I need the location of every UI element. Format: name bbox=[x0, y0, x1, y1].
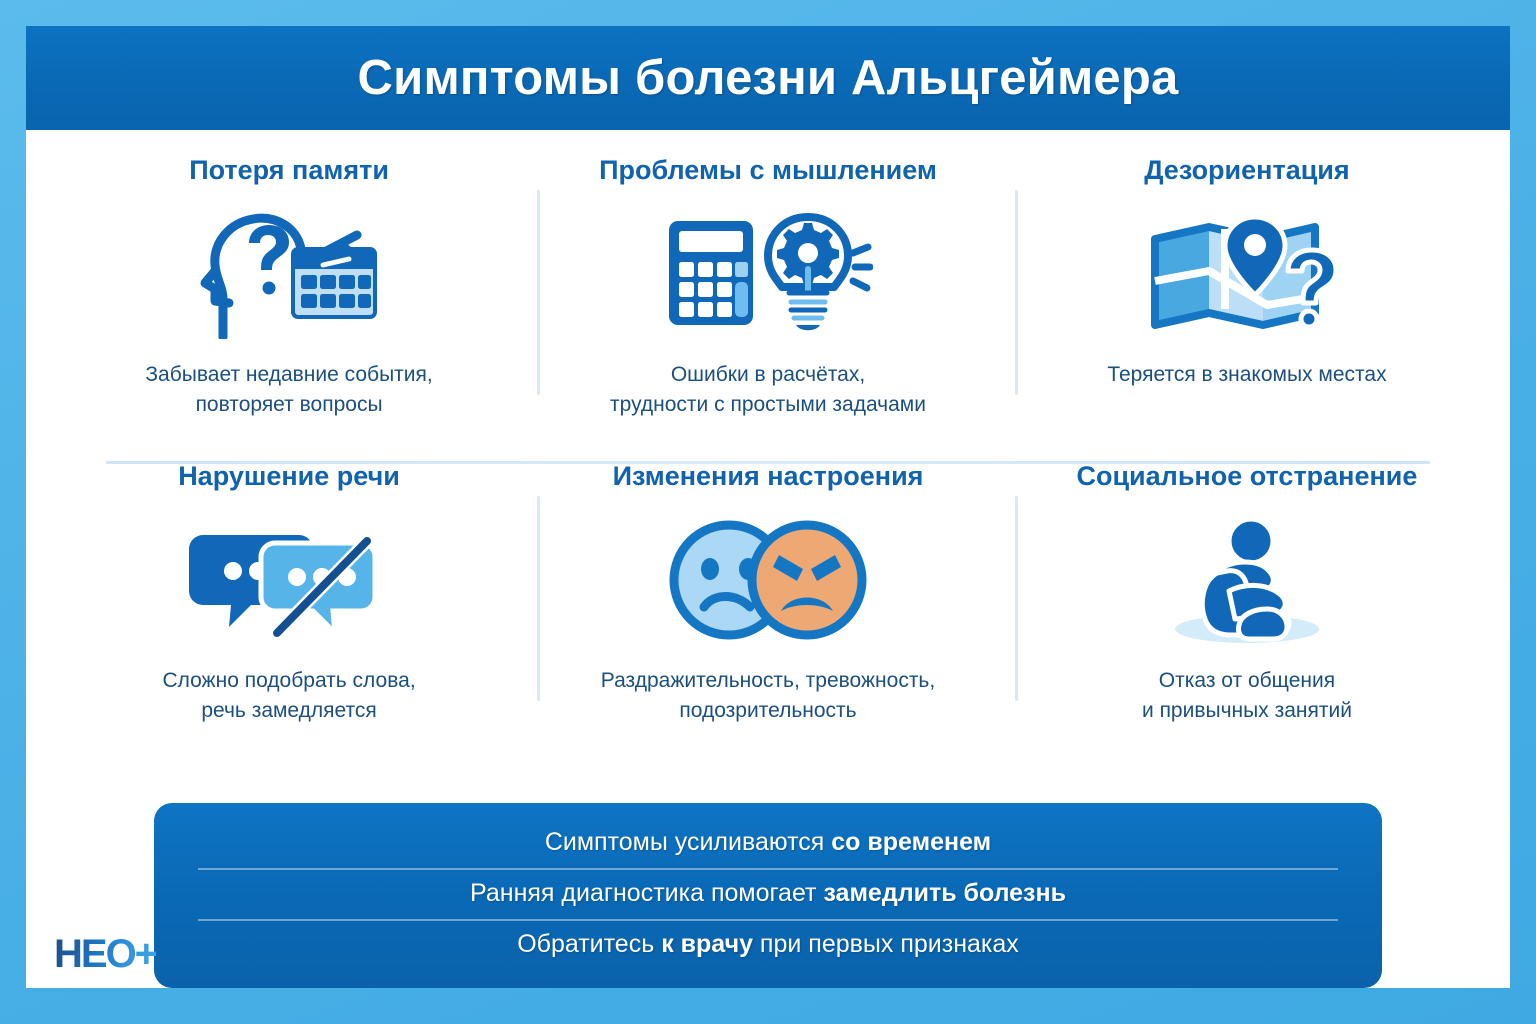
symptom-title: Изменения настроения bbox=[613, 462, 924, 500]
symptom-description: Ошибки в расчётах,трудности с простыми з… bbox=[610, 360, 926, 420]
calculator-lightbulb-gear-icon bbox=[663, 208, 873, 340]
symptom-card-memory-loss[interactable]: Потеря памяти bbox=[54, 156, 524, 462]
message-text-bold: к врачу bbox=[661, 930, 753, 958]
symptom-description: Теряется в знакомых местах bbox=[1107, 360, 1386, 390]
symptoms-row-1: Потеря памяти bbox=[54, 156, 1482, 462]
symptom-card-disorientation[interactable]: Дезориентация bbox=[1012, 156, 1482, 462]
symptom-title: Социальное отстранение bbox=[1076, 462, 1417, 500]
head-question-calendar-icon bbox=[189, 208, 389, 340]
symptom-card-social-withdrawal[interactable]: Социальное отстранение bbox=[1012, 462, 1482, 768]
symptom-description: Раздражительность, тревожность,подозрите… bbox=[601, 666, 935, 726]
poster-card: Симптомы болезни Альцгеймера Потеря памя… bbox=[26, 26, 1510, 988]
message-text-bold: со временем bbox=[831, 828, 991, 856]
poster-canvas: Симптомы болезни Альцгеймера Потеря памя… bbox=[0, 0, 1536, 1024]
brand-logo: НЕО+ bbox=[54, 934, 156, 974]
sad-angry-faces-icon bbox=[663, 514, 873, 646]
key-messages-panel: Симптомы усиливаются со временем Ранняя … bbox=[154, 803, 1382, 988]
message-text-plain: Обратитесь bbox=[517, 930, 661, 958]
symptoms-row-2: Нарушение речи bbox=[54, 462, 1482, 768]
symptom-card-speech-impairment[interactable]: Нарушение речи bbox=[54, 462, 524, 768]
message-text-plain: Ранняя диагностика помогает bbox=[470, 879, 823, 907]
message-text-plain-after: при первых признаках bbox=[753, 930, 1019, 958]
symptom-title: Дезориентация bbox=[1144, 156, 1349, 194]
symptom-card-thinking-problems[interactable]: Проблемы с мышлением bbox=[524, 156, 1012, 462]
key-message-line: Симптомы усиливаются со временем bbox=[198, 819, 1338, 868]
symptoms-grid: Потеря памяти bbox=[26, 130, 1510, 803]
symptom-description: Забывает недавние события,повторяет вопр… bbox=[145, 360, 432, 420]
map-pin-question-icon bbox=[1147, 208, 1347, 340]
key-message-line: Обратитесь к врачу при первых признаках bbox=[198, 919, 1338, 970]
symptom-description: Сложно подобрать слова,речь замедляется bbox=[162, 666, 415, 726]
person-sitting-alone-icon bbox=[1147, 514, 1347, 646]
footer-region: Симптомы усиливаются со временем Ранняя … bbox=[26, 803, 1510, 988]
symptom-card-mood-changes[interactable]: Изменения настроения bbox=[524, 462, 1012, 768]
speech-bubbles-crossed-icon bbox=[189, 514, 389, 646]
key-message-line: Ранняя диагностика помогает замедлить бо… bbox=[198, 868, 1338, 919]
message-text-bold: замедлить болезнь bbox=[823, 879, 1066, 907]
symptom-title: Проблемы с мышлением bbox=[599, 156, 937, 194]
header-bar: Симптомы болезни Альцгеймера bbox=[26, 26, 1510, 130]
message-text-plain: Симптомы усиливаются bbox=[545, 828, 831, 856]
symptom-title: Нарушение речи bbox=[178, 462, 400, 500]
page-title: Симптомы болезни Альцгеймера bbox=[358, 50, 1179, 106]
symptom-title: Потеря памяти bbox=[189, 156, 389, 194]
symptom-description: Отказ от общенияи привычных занятий bbox=[1142, 666, 1352, 726]
